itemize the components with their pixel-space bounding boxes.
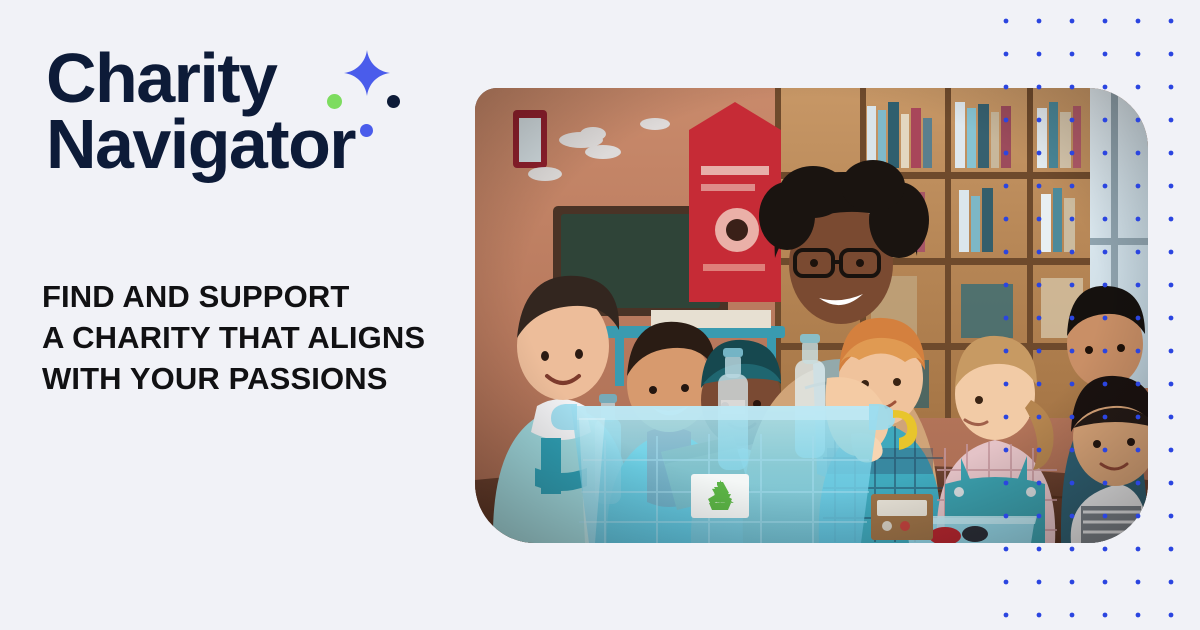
promo-banner: Charity Navigator FIND AND SUPPORT A CHA… — [0, 0, 1200, 630]
sparkle-dot-green-icon — [327, 94, 342, 109]
brand-logo[interactable]: Charity Navigator — [46, 46, 446, 206]
left-content-column: Charity Navigator FIND AND SUPPORT A CHA… — [0, 0, 470, 630]
sparkle-dot-blue-icon — [360, 124, 373, 137]
sparkle-cluster — [324, 50, 434, 140]
sparkle-dot-navy-icon — [387, 95, 400, 108]
tagline-headline: FIND AND SUPPORT A CHARITY THAT ALIGNS W… — [42, 277, 452, 400]
four-point-star-icon — [344, 50, 390, 96]
classroom-recycling-photo — [475, 88, 1148, 543]
photo-illustration — [475, 88, 1148, 543]
